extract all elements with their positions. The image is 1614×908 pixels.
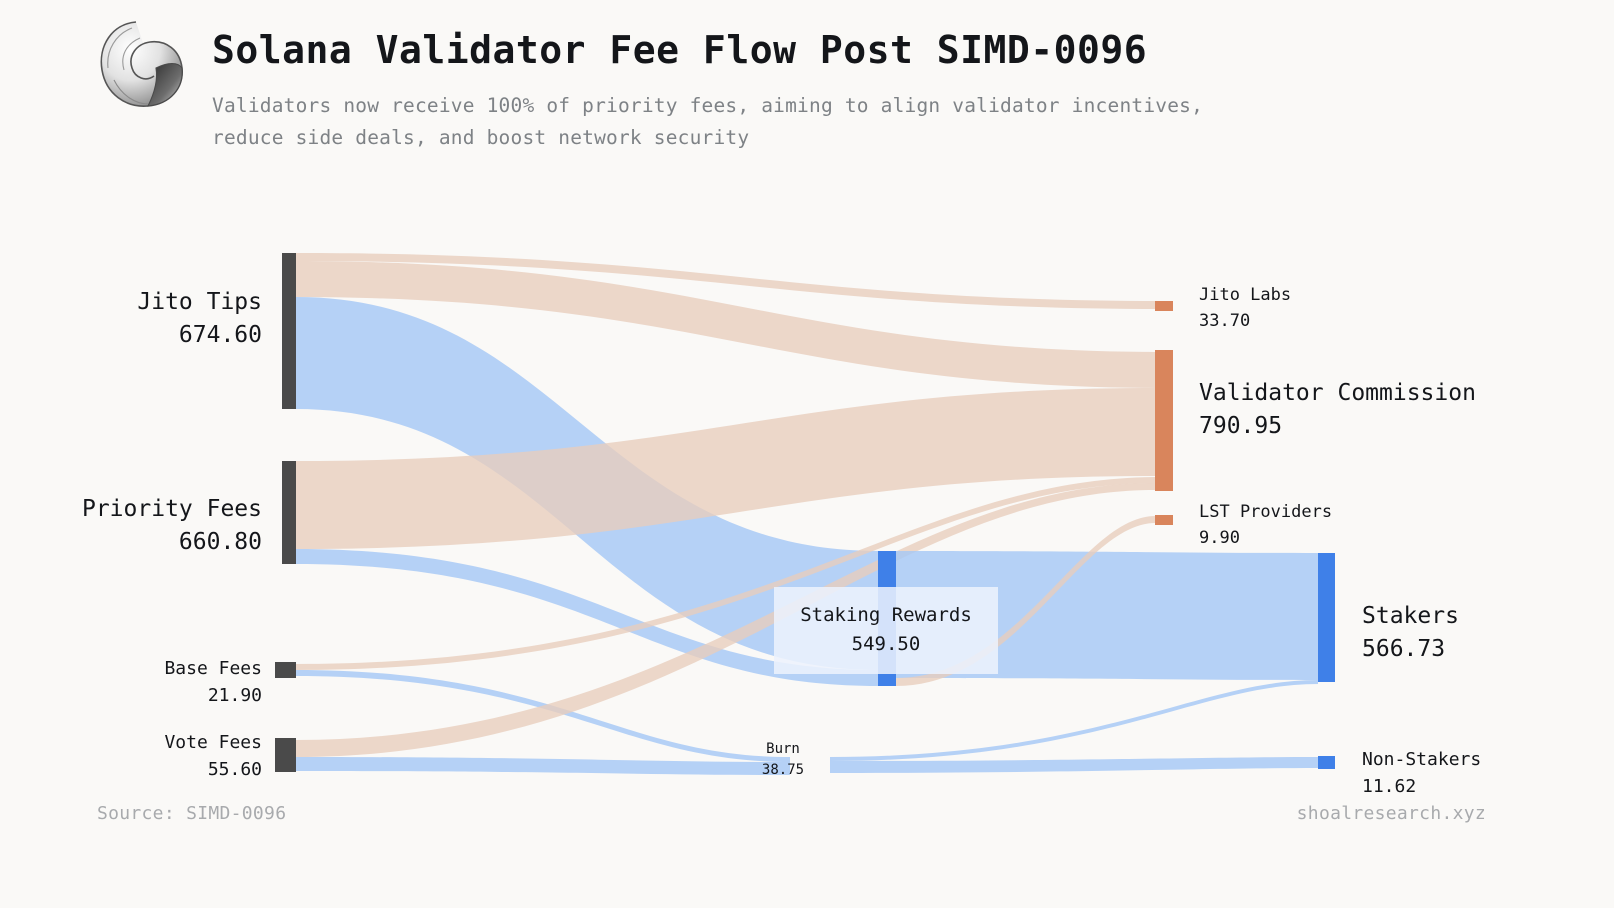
node-label-stakers: Stakers 566.73 <box>1362 600 1459 667</box>
node-label-burn: Burn 38.75 <box>735 739 831 781</box>
node-jito-labs[interactable] <box>1155 301 1173 311</box>
node-non-stakers[interactable] <box>1318 756 1335 769</box>
link-burn-to-stakers <box>830 680 1318 761</box>
node-label-jito-labs: Jito Labs 33.70 <box>1199 283 1291 334</box>
node-lst-providers[interactable] <box>1155 515 1173 525</box>
node-label-base-fees: Base Fees 21.90 <box>0 655 262 709</box>
footer-attribution[interactable]: shoalresearch.xyz <box>1297 803 1486 824</box>
node-label-non-stakers: Non-Stakers 11.62 <box>1362 746 1481 800</box>
node-base-fees[interactable] <box>275 662 296 678</box>
sankey-links <box>296 253 1318 775</box>
node-validator-commission[interactable] <box>1155 350 1173 491</box>
chart-canvas: Solana Validator Fee Flow Post SIMD-0096… <box>0 0 1614 908</box>
node-jito-tips[interactable] <box>282 253 296 409</box>
node-label-lst-providers: LST Providers 9.90 <box>1199 500 1332 551</box>
node-label-staking-rewards: Staking Rewards 549.50 <box>774 587 998 674</box>
link-burn-to-non-stakers <box>830 757 1318 773</box>
node-label-vote-fees: Vote Fees 55.60 <box>0 729 262 783</box>
node-stakers[interactable] <box>1318 553 1335 682</box>
node-label-priority-fees: Priority Fees 660.80 <box>0 493 262 560</box>
node-vote-fees[interactable] <box>275 738 296 772</box>
link-vote-fees-to-burn <box>296 757 790 775</box>
node-label-validator-commission: Validator Commission 790.95 <box>1199 377 1476 444</box>
node-label-jito-tips: Jito Tips 674.60 <box>0 286 262 353</box>
node-priority-fees[interactable] <box>282 461 296 564</box>
footer-source: Source: SIMD-0096 <box>97 803 286 824</box>
